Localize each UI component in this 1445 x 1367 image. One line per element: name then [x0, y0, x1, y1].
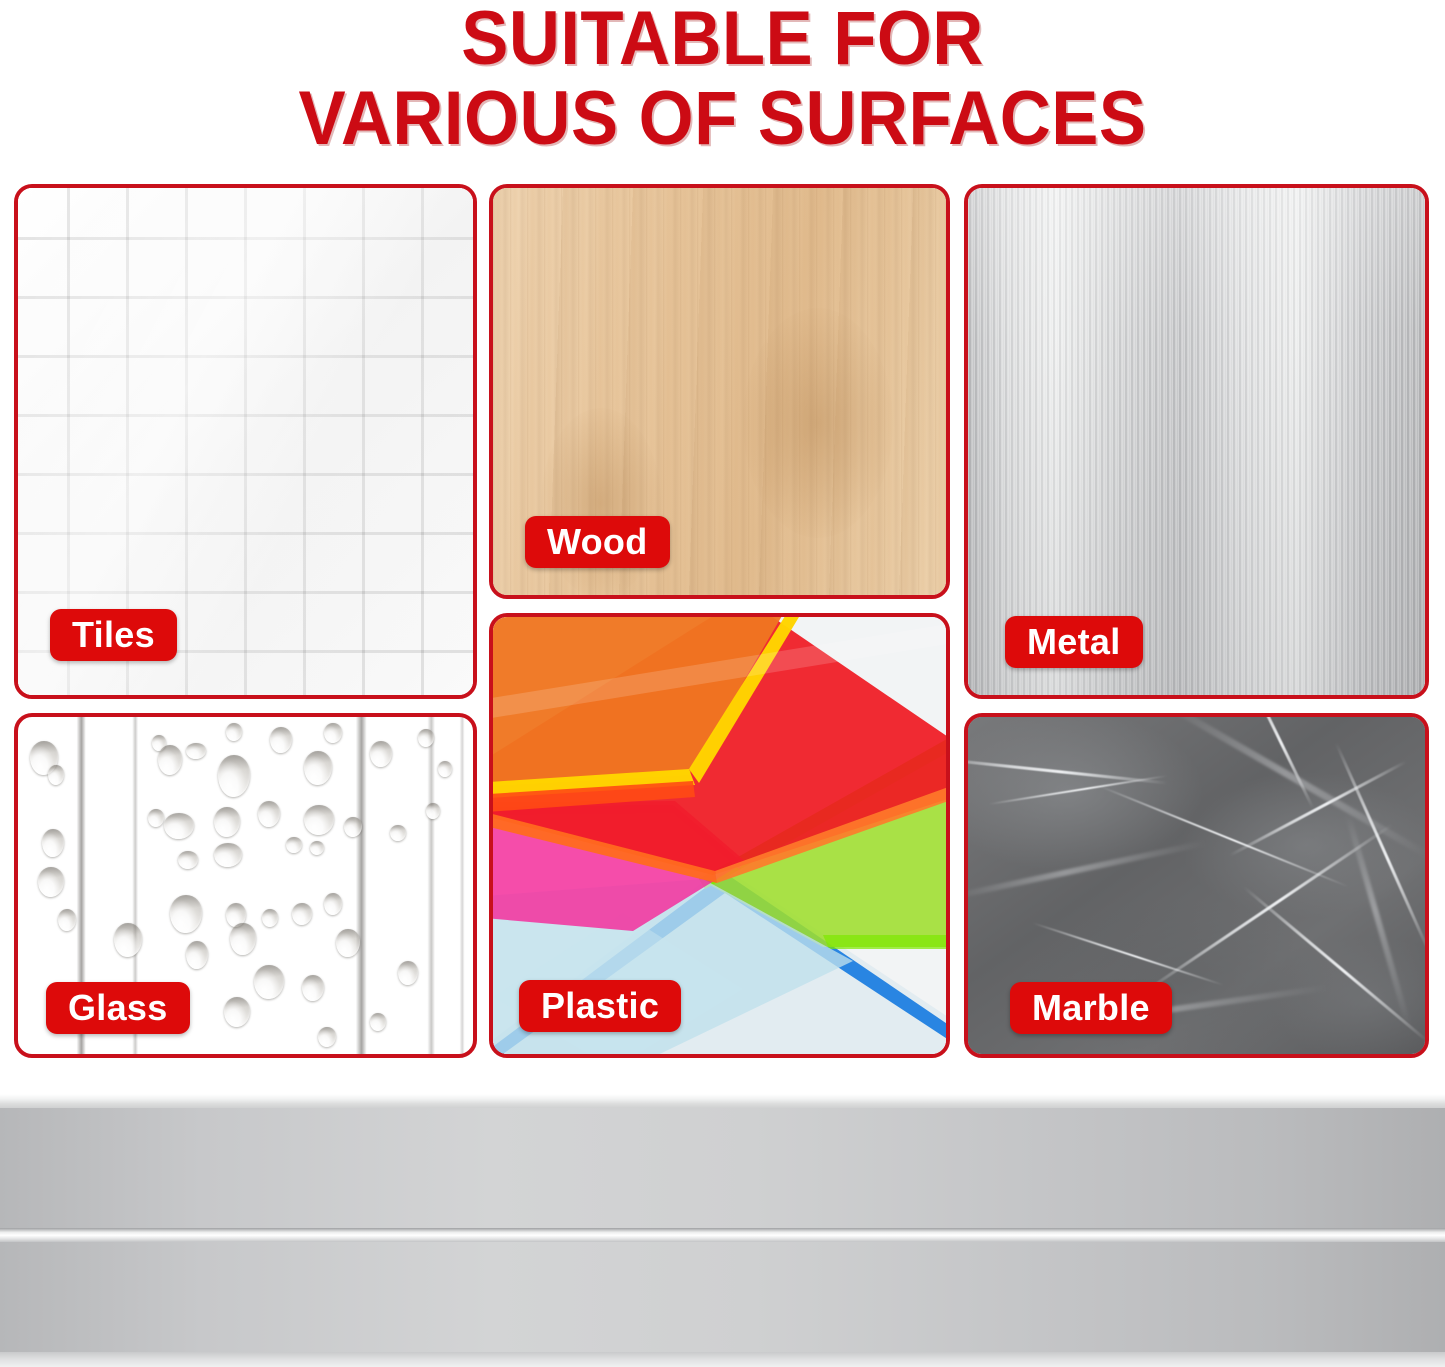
page-title-line-1: SUITABLE FOR	[51, 2, 1395, 76]
surface-panel-glass[interactable]: Glass	[14, 713, 477, 1058]
shelf-lower-face	[0, 1242, 1445, 1355]
surface-label-marble: Marble	[1010, 982, 1172, 1034]
surface-panel-tiles[interactable]: Tiles	[14, 184, 477, 699]
surface-label-metal: Metal	[1005, 616, 1143, 668]
surface-label-wood: Wood	[525, 516, 670, 568]
surface-label-plastic-text: Plastic	[541, 985, 659, 1027]
surface-label-wood-text: Wood	[547, 521, 648, 563]
surface-panel-metal[interactable]: Metal	[964, 184, 1429, 699]
shelf-groove-line	[0, 1228, 1445, 1242]
shelf-upper-face	[0, 1108, 1445, 1230]
surface-label-marble-text: Marble	[1032, 987, 1150, 1029]
surface-label-glass-text: Glass	[68, 987, 168, 1029]
surface-panel-wood[interactable]: Wood	[489, 184, 950, 599]
surface-label-tiles-text: Tiles	[72, 614, 155, 656]
surface-label-glass: Glass	[46, 982, 190, 1034]
surface-label-metal-text: Metal	[1027, 621, 1121, 663]
page-title-line-2: VARIOUS OF SURFACES	[51, 82, 1395, 156]
surface-panel-marble[interactable]: Marble	[964, 713, 1429, 1058]
surface-label-plastic: Plastic	[519, 980, 681, 1032]
surface-label-tiles: Tiles	[50, 609, 177, 661]
infographic-root: SUITABLE FOR VARIOUS OF SURFACES Tiles W…	[0, 0, 1445, 1367]
page-title: SUITABLE FOR VARIOUS OF SURFACES	[0, 2, 1445, 157]
shelf-top-highlight	[0, 1094, 1445, 1108]
surface-panel-plastic[interactable]: Plastic	[489, 613, 950, 1058]
